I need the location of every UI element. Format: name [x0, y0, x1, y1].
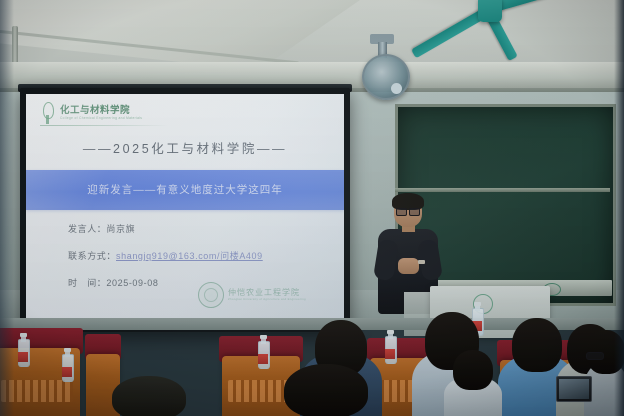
ceiling-fan-icon [430, 0, 550, 42]
audience-head [284, 364, 368, 416]
slide-org-name-en: College of Chemical Engineering and Mate… [60, 116, 142, 120]
audience-member [584, 330, 624, 416]
bottle-cap [64, 348, 71, 352]
water-bottle [62, 348, 72, 382]
slide-meta-contact: 联系方式：shangjq919@163.com/问楼A409 [68, 249, 263, 262]
slide-university-seal: 仲恺农业工程学院 Zhongkai University of Agricult… [198, 282, 306, 308]
slide-meta-label: 发言人： [68, 224, 106, 234]
bottle-cap [387, 330, 394, 334]
audience-member [444, 350, 502, 416]
wall-fan-icon [352, 44, 412, 106]
audience-member-front [276, 364, 376, 416]
bottle-cap [260, 335, 267, 339]
wristwatch-icon [418, 260, 425, 264]
presenter-hands [398, 258, 419, 274]
laptop [556, 376, 592, 402]
slide-contact-room: /问楼A409 [217, 251, 263, 261]
bottle-cap [474, 302, 481, 306]
bottle-label [18, 352, 28, 362]
slide-meta-label: 时 间： [68, 278, 106, 288]
slide-logo-rule [40, 125, 168, 126]
water-bottle [385, 330, 395, 364]
seal-name-en: Zhongkai University of Agriculture and E… [228, 297, 306, 301]
lecture-hall-photo: 化工与材料学院 College of Chemical Engineering … [0, 0, 624, 416]
audience-head [512, 318, 562, 372]
university-seal-icon [198, 282, 224, 308]
audience-head [453, 350, 493, 390]
bottle-label [258, 354, 268, 364]
slide-meta-date: 时 间：2025-09-08 [68, 276, 158, 289]
slide-org-logo: 化工与材料学院 College of Chemical Engineering … [40, 102, 142, 124]
fan-hub [478, 0, 502, 22]
glasses-icon [396, 208, 420, 214]
glasses-icon [586, 352, 604, 360]
slide-meta-value: 尚京旗 [106, 224, 135, 234]
seal-name-cn: 仲恺农业工程学院 [228, 289, 306, 298]
presentation-slide: 化工与材料学院 College of Chemical Engineering … [26, 94, 344, 320]
slide-org-name-cn: 化工与材料学院 [60, 106, 142, 116]
bottle-label [385, 349, 395, 359]
bottle-cap [20, 333, 27, 337]
slide-meta-value: 2025-09-08 [106, 278, 158, 288]
slide-meta-speaker: 发言人：尚京旗 [68, 222, 135, 235]
slide-title: ——2025化工与材料学院—— [26, 138, 344, 157]
water-bottle [258, 335, 268, 369]
slide-contact-email: shangjq919@163.com [116, 251, 217, 261]
audience-member-front [106, 376, 192, 416]
bottle-label [62, 367, 72, 377]
leaf-flask-logo-icon [40, 102, 55, 124]
seat-slats [1, 380, 73, 402]
chalkboard-divider [395, 188, 610, 192]
audience-head [112, 376, 186, 416]
slide-meta-label: 联系方式： [68, 251, 116, 261]
fan-cage [362, 54, 410, 100]
fan-hub [391, 83, 402, 94]
water-bottle [18, 333, 28, 367]
slide-banner-text: 迎新发言——有意义地度过大学这四年 [26, 182, 344, 197]
